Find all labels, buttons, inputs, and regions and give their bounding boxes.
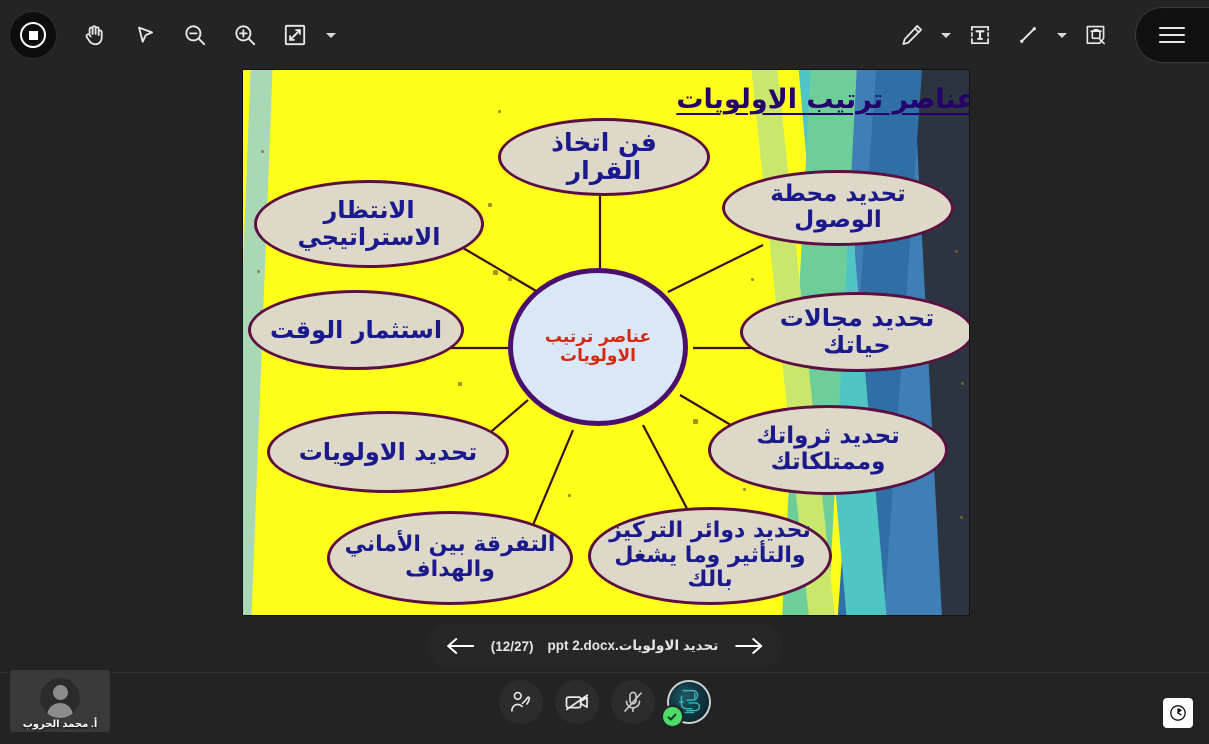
- zoom-in-icon: [232, 22, 258, 48]
- select-tool[interactable]: [122, 12, 168, 58]
- clear-page-tool[interactable]: [1073, 12, 1119, 58]
- speck: [568, 494, 571, 497]
- clock-icon: [1168, 703, 1188, 723]
- node-wealth-assets[interactable]: تحديد ثرواتك وممتلكاتك: [708, 405, 948, 495]
- fit-screen-tool[interactable]: [272, 12, 318, 58]
- toolbar-left-group: [0, 12, 340, 58]
- slide-title: عناصر ترتيب الاولويات: [676, 84, 969, 115]
- speck: [458, 382, 462, 386]
- speck: [257, 270, 260, 273]
- participant-avatar: [40, 678, 80, 718]
- raise-hand-icon: [508, 689, 534, 715]
- node-strategic-waiting[interactable]: الانتظار الاستراتيجي: [254, 180, 484, 268]
- previous-slide-button[interactable]: [443, 634, 477, 658]
- pen-dropdown[interactable]: [937, 15, 955, 55]
- arrow-left-icon: [443, 634, 477, 658]
- stop-recording-button[interactable]: [10, 12, 56, 58]
- hamburger-icon: [1159, 27, 1185, 43]
- presentation-viewer-app: عناصر ترتيب الاولويات فن اتخاذ القرار تح…: [0, 0, 1209, 744]
- raise-hand-button[interactable]: [499, 680, 543, 724]
- line-tool[interactable]: [1005, 12, 1051, 58]
- node-wishes-vs-goals[interactable]: التفرقة بين الأماني والهداف: [327, 511, 573, 605]
- speck: [743, 488, 746, 491]
- speck: [508, 277, 512, 281]
- slide-canvas[interactable]: عناصر ترتيب الاولويات فن اتخاذ القرار تح…: [243, 70, 969, 615]
- bottom-divider: [0, 672, 1209, 673]
- participant-thumbnail[interactable]: أ. محمد الحروب: [10, 670, 110, 732]
- slide-stage: عناصر ترتيب الاولويات فن اتخاذ القرار تح…: [0, 70, 1209, 622]
- node-time-investment[interactable]: استثمار الوقت: [248, 290, 464, 370]
- node-life-domains[interactable]: تحديد مجالات حياتك: [740, 292, 969, 372]
- pencil-icon: [899, 22, 925, 48]
- chevron-down-icon: [326, 33, 336, 38]
- stop-icon: [20, 22, 46, 48]
- node-center-topic[interactable]: عناصر ترتيب الاولويات: [508, 268, 688, 426]
- hamburger-menu-button[interactable]: [1135, 7, 1209, 63]
- mic-off-icon: [620, 689, 646, 715]
- speck: [488, 203, 492, 207]
- chevron-down-icon: [1057, 33, 1067, 38]
- node-decision-art[interactable]: فن اتخاذ القرار: [498, 118, 710, 196]
- assistant-active-badge: [663, 707, 682, 726]
- line-dropdown[interactable]: [1053, 15, 1071, 55]
- speck: [261, 150, 264, 153]
- participant-name: أ. محمد الحروب: [10, 719, 110, 730]
- session-timer-button[interactable]: [1163, 698, 1193, 728]
- pen-tool[interactable]: [889, 12, 935, 58]
- microphone-button[interactable]: [611, 680, 655, 724]
- camera-off-icon: [563, 688, 591, 716]
- line-icon: [1015, 22, 1041, 48]
- page-navigation-bar: (12/27) تحديد الاولويات.ppt 2.docx: [427, 624, 783, 668]
- top-toolbar: [0, 0, 1209, 70]
- text-box-icon: [967, 22, 993, 48]
- pan-hand-tool[interactable]: [72, 12, 118, 58]
- node-set-priorities[interactable]: تحديد الاولويات: [267, 411, 509, 493]
- speck: [751, 278, 754, 281]
- node-focus-circles[interactable]: تحديد دوائر التركيز والتأثير وما يشغل با…: [588, 507, 832, 605]
- speck: [960, 516, 963, 519]
- speck: [693, 419, 698, 424]
- zoom-in-tool[interactable]: [222, 12, 268, 58]
- assistant-button[interactable]: [667, 680, 711, 724]
- hand-icon: [82, 22, 108, 48]
- check-icon: [666, 711, 678, 723]
- next-slide-button[interactable]: [732, 634, 766, 658]
- speck: [961, 382, 964, 385]
- text-box-tool[interactable]: [957, 12, 1003, 58]
- file-name-label: تحديد الاولويات.ppt 2.docx: [547, 638, 718, 654]
- node-arrival-station[interactable]: تحديد محطة الوصول: [722, 170, 954, 246]
- cursor-arrow-icon: [132, 22, 158, 48]
- fit-screen-icon: [282, 22, 308, 48]
- toolbar-right-group: [889, 7, 1209, 63]
- zoom-out-icon: [182, 22, 208, 48]
- speck: [493, 270, 498, 275]
- camera-button[interactable]: [555, 680, 599, 724]
- arrow-right-icon: [732, 634, 766, 658]
- speck: [955, 250, 958, 253]
- meeting-controls: [499, 680, 711, 724]
- speck: [498, 110, 501, 113]
- fit-screen-dropdown[interactable]: [322, 15, 340, 55]
- zoom-out-tool[interactable]: [172, 12, 218, 58]
- chevron-down-icon: [941, 33, 951, 38]
- page-counter: (12/27): [491, 639, 534, 654]
- clear-annotations-icon: [1083, 22, 1109, 48]
